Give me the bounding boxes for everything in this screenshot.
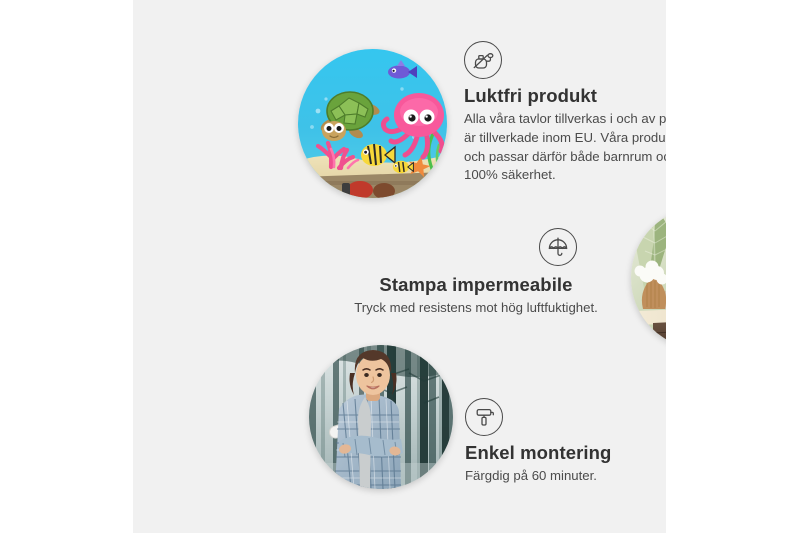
feature-easy-mount: Enkel montering Färgdig på 60 minuter.: [465, 398, 666, 486]
screenshot-stage: Luktfri produkt Alla våra tavlor tillver…: [0, 0, 800, 533]
feature-panel: Luktfri produkt Alla våra tavlor tillver…: [133, 0, 666, 533]
feature-odourless: Luktfri produkt Alla våra tavlor tillver…: [464, 41, 666, 185]
feature-icon-row: [351, 228, 601, 266]
painter-forest-photo: [309, 345, 453, 489]
feature-description: Färgdig på 60 minuter.: [465, 467, 666, 486]
feature-title: Stampa impermeabile: [351, 274, 601, 296]
underwater-scene-illustration: [298, 49, 447, 198]
bathroom-illustration: [631, 207, 666, 349]
paint-roller-icon: [465, 398, 503, 436]
feature-title: Enkel montering: [465, 442, 666, 464]
perfume-bottle-crossed-glyph: [471, 48, 495, 72]
umbrella-glyph: [546, 235, 570, 259]
no-odour-icon: [464, 41, 502, 79]
underwater-scene-photo: [298, 49, 447, 198]
bathroom-wallpaper-photo: [631, 207, 666, 349]
feature-description: Tryck med resistens mot hög luftfuktighe…: [351, 299, 601, 318]
feature-description: Alla våra tavlor tillverkas i och av pro…: [464, 110, 666, 185]
paint-roller-glyph: [472, 405, 496, 429]
feature-waterproof: Stampa impermeabile Tryck med resistens …: [351, 228, 601, 318]
painter-forest-illustration: [309, 345, 453, 489]
feature-title: Luktfri produkt: [464, 85, 666, 107]
umbrella-icon: [539, 228, 577, 266]
